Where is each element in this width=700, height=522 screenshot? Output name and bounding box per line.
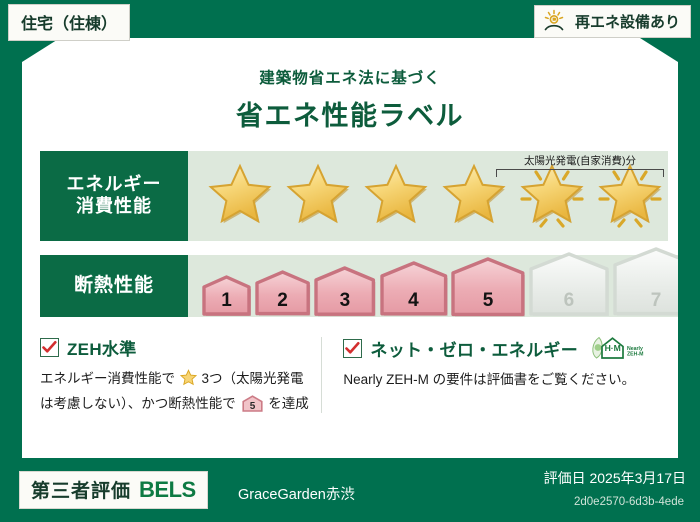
energy-performance-body: 太陽光発電(自家消費)分 [188, 151, 668, 241]
criteria-zeh-text4: を達成 [268, 396, 309, 411]
energy-label-line2: 消費性能 [76, 196, 152, 218]
energy-label-line1: エネルギー [67, 174, 162, 196]
star-filled-icon [280, 159, 356, 231]
building-type-label: 住宅（住棟） [21, 16, 117, 33]
insulation-performance-label-box: 断熱性能 [40, 255, 188, 317]
star-solar-icon [592, 159, 668, 231]
star-filled-icon [358, 159, 434, 231]
insulation-label-text: 断熱性能 [74, 274, 154, 297]
building-type-badge: 住宅（住棟） [8, 4, 130, 41]
criteria-section: ZEH水準 エネルギー消費性能で 3つ（太陽光発電は考慮しない）、かつ断熱性能で… [40, 335, 660, 419]
criteria-zeh-body: エネルギー消費性能で 3つ（太陽光発電は考慮しない）、かつ断熱性能で 5 を達成 [40, 368, 309, 419]
star-filled-icon [436, 159, 512, 231]
house-grade-icon: 5 [238, 400, 267, 415]
label-panel: 建築物省エネ法に基づく 省エネ性能ラベル エネルギー 消費性能 [22, 38, 678, 458]
insulation-grade-active: 5 [450, 257, 526, 317]
insulation-grade-scale: 1 2 [188, 255, 700, 317]
energy-performance-label-box: エネルギー 消費性能 [40, 151, 188, 241]
insulation-performance-row: 断熱性能 1 [40, 255, 660, 317]
insulation-grade-inactive: 6 [528, 252, 610, 317]
checkbox-checked-icon [343, 339, 362, 358]
title-subtitle: 建築物省エネ法に基づく [22, 66, 678, 88]
insulation-grade-number: 3 [313, 290, 376, 312]
insulation-grade-number: 2 [254, 290, 311, 312]
checkbox-checked-icon [40, 338, 59, 357]
insulation-grade-number: 6 [528, 290, 610, 312]
criteria-divider [321, 337, 322, 413]
page-title: 省エネ性能ラベル [22, 94, 678, 133]
star-rating [188, 159, 668, 233]
criteria-zeh-text3: は考慮しない）、かつ断熱性能で [40, 396, 236, 411]
svg-text:H·M: H·M [605, 343, 621, 353]
bels-en-label: BELS [139, 477, 196, 503]
insulation-grade-number: 5 [450, 290, 526, 312]
criteria-net-zero-title: ネット・ゼロ・エネルギー [370, 336, 578, 361]
renewable-equipment-label: 再エネ設備あり [575, 11, 680, 32]
insulation-grade-inactive: 7 [612, 247, 700, 317]
svg-text:5: 5 [249, 401, 255, 412]
criteria-zeh: ZEH水準 エネルギー消費性能で 3つ（太陽光発電は考慮しない）、かつ断熱性能で… [40, 335, 321, 419]
star-filled-icon [202, 159, 278, 231]
insulation-grade-active: 3 [313, 266, 376, 317]
footer: 第三者評価 BELS GraceGarden赤渋 評価日 2025年3月17日 … [0, 458, 700, 522]
evaluation-date: 評価日 2025年3月17日 [544, 468, 686, 488]
project-name: GraceGarden赤渋 [238, 483, 355, 504]
bels-jp-label: 第三者評価 [31, 476, 131, 503]
insulation-grade-number: 1 [201, 290, 252, 312]
criteria-zeh-text2: 3つ（太陽光発電 [202, 371, 304, 386]
criteria-net-zero-header: ネット・ゼロ・エネルギー H·M Nearly ZEH-M [343, 335, 648, 361]
criteria-net-zero: ネット・ゼロ・エネルギー H·M Nearly ZEH-M Nearly ZEH… [321, 335, 660, 419]
evaluation-id: 2d0e2570-6d3b-4ede [574, 496, 684, 508]
criteria-zeh-header: ZEH水準 [40, 335, 309, 360]
renewable-equipment-badge: 再エネ設備あり [534, 5, 691, 38]
nearly-zehm-logo-icon: H·M Nearly ZEH-M [590, 335, 648, 361]
solar-sun-icon [543, 9, 569, 33]
insulation-grade-number: 4 [379, 290, 449, 312]
criteria-net-zero-body: Nearly ZEH-M の要件は評価書をご覧ください。 [343, 369, 648, 391]
criteria-zeh-text1: エネルギー消費性能で [40, 371, 175, 386]
insulation-grade-active: 4 [379, 261, 449, 317]
insulation-grade-active: 2 [254, 270, 311, 317]
star-solar-icon [514, 159, 590, 231]
bels-certification-badge: 第三者評価 BELS [19, 471, 208, 509]
star-icon [180, 374, 201, 389]
energy-performance-label: 住宅（住棟） 再エネ設備あり 建築物省エネ法に基づく 省エネ性能ラベル [0, 0, 700, 522]
svg-text:ZEH-M: ZEH-M [627, 352, 643, 358]
energy-performance-row: エネルギー 消費性能 [40, 151, 660, 241]
insulation-grade-active: 1 [201, 275, 252, 317]
insulation-grade-number: 7 [612, 290, 700, 312]
insulation-performance-body: 1 2 [188, 255, 700, 317]
criteria-zeh-title: ZEH水準 [67, 335, 137, 360]
